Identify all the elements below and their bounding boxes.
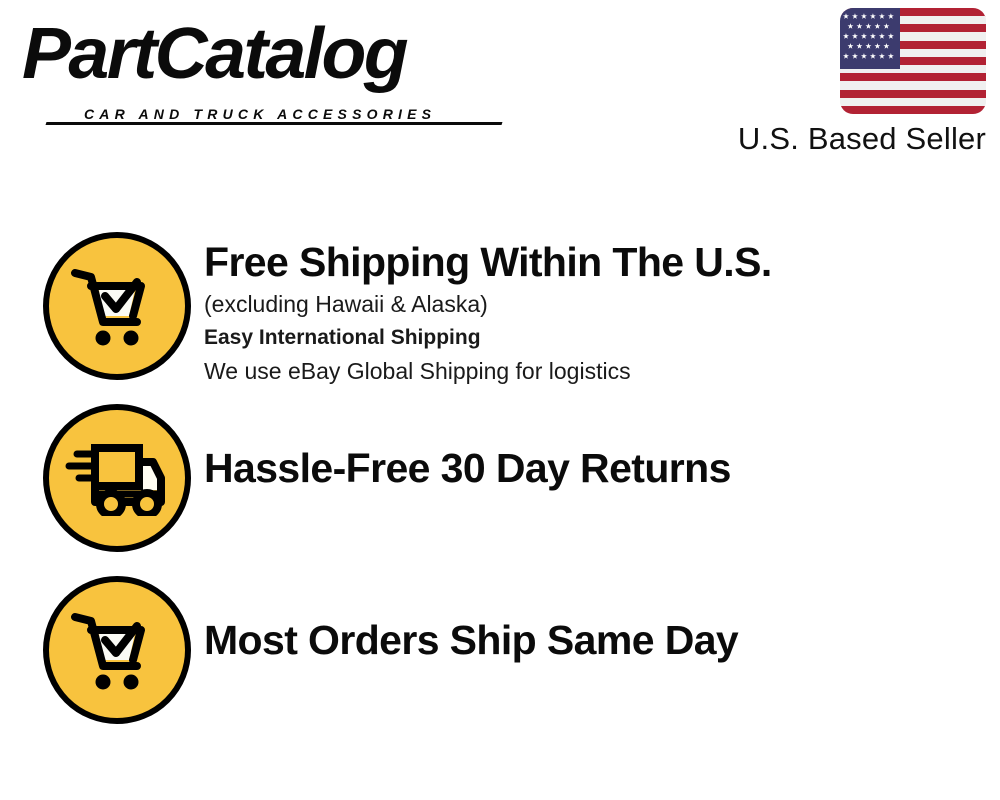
feature-subline: We use eBay Global Shipping for logistic…	[204, 354, 772, 388]
icon-badge-circle	[43, 404, 191, 552]
feature-heading: Hassle-Free 30 Day Returns	[204, 444, 731, 493]
logo-tagline: CAR AND TRUCK ACCESSORIES	[84, 106, 436, 122]
feature-list: Free Shipping Within The U.S. (excluding…	[0, 232, 1000, 748]
feature-icon-wrap	[43, 404, 191, 552]
feature-subline-bold: Easy International Shipping	[204, 321, 772, 354]
feature-text-block: Free Shipping Within The U.S. (excluding…	[204, 232, 772, 388]
delivery-truck-icon	[65, 440, 169, 516]
feature-row: Free Shipping Within The U.S. (excluding…	[0, 232, 1000, 404]
us-based-seller-label: U.S. Based Seller	[716, 121, 986, 157]
icon-badge-circle	[43, 232, 191, 380]
icon-badge-circle	[43, 576, 191, 724]
feature-heading: Free Shipping Within The U.S.	[204, 238, 772, 287]
feature-text-block: Most Orders Ship Same Day	[204, 576, 738, 665]
feature-subline: (excluding Hawaii & Alaska)	[204, 287, 772, 321]
feature-row: Hassle-Free 30 Day Returns	[0, 404, 1000, 576]
brand-logo[interactable]: PartCatalog CAR AND TRUCK ACCESSORIES	[22, 18, 502, 118]
feature-icon-wrap	[43, 232, 191, 380]
us-based-seller-badge: U.S. Based Seller	[716, 8, 986, 157]
logo-underline-rule	[46, 122, 503, 125]
feature-text-block: Hassle-Free 30 Day Returns	[204, 404, 731, 493]
feature-heading: Most Orders Ship Same Day	[204, 616, 738, 665]
logo-wordmark: PartCatalog	[22, 18, 512, 90]
us-flag-icon	[840, 8, 986, 114]
flag-stars-icon	[840, 8, 900, 69]
shopping-cart-check-icon	[69, 608, 165, 692]
feature-icon-wrap	[43, 576, 191, 724]
shipping-info-banner: PartCatalog CAR AND TRUCK ACCESSORIES	[0, 0, 1000, 800]
feature-row: Most Orders Ship Same Day	[0, 576, 1000, 748]
shopping-cart-check-icon	[69, 264, 165, 348]
